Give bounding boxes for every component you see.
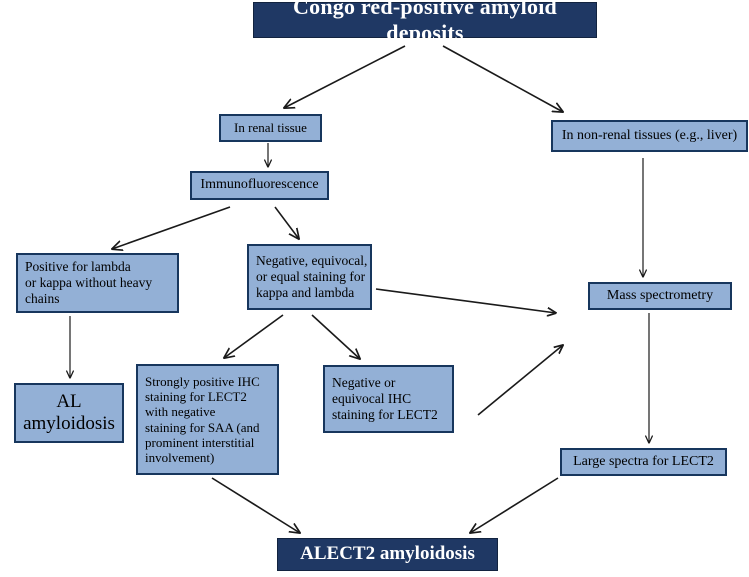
node-large-spectra-for-lect2: Large spectra for LECT2	[560, 448, 727, 476]
node-immunofluorescence: Immunofluorescence	[190, 171, 329, 200]
node-negative-equivocal-equal-staining: Negative, equivocal, or equal staining f…	[247, 244, 372, 310]
flowchart-canvas: Congo red-positive amyloid deposits In r…	[0, 0, 749, 577]
edge-negative-to-strong	[224, 315, 283, 358]
node-strongly-positive-ihc-lect2: Strongly positive IHC staining for LECT2…	[136, 364, 279, 475]
node-mass-spectrometry: Mass spectrometry	[588, 282, 732, 310]
edge-negative-to-mass	[376, 289, 556, 313]
node-in-renal-tissue: In renal tissue	[219, 114, 322, 142]
edge-strong-to-alect2	[212, 478, 300, 533]
edge-title-to-renal	[284, 46, 405, 108]
node-negative-or-equivocal-ihc-lect2: Negative or equivocal IHC staining for L…	[323, 365, 454, 433]
edge-large-to-alect2	[470, 478, 558, 533]
edge-negative-to-negihc	[312, 315, 360, 359]
node-positive-for-lambda-or-kappa: Positive for lambda or kappa without hea…	[16, 253, 179, 313]
edge-if-to-negative	[275, 207, 299, 239]
node-in-non-renal-tissues: In non-renal tissues (e.g., liver)	[551, 120, 748, 152]
node-al-amyloidosis: AL amyloidosis	[14, 383, 124, 443]
node-alect2-amyloidosis: ALECT2 amyloidosis	[277, 538, 498, 571]
node-congo-red-positive-amyloid-deposits: Congo red-positive amyloid deposits	[253, 2, 597, 38]
edge-title-to-nonrenal	[443, 46, 563, 112]
edge-if-to-positive	[112, 207, 230, 249]
edge-negihc-to-mass	[478, 345, 563, 415]
